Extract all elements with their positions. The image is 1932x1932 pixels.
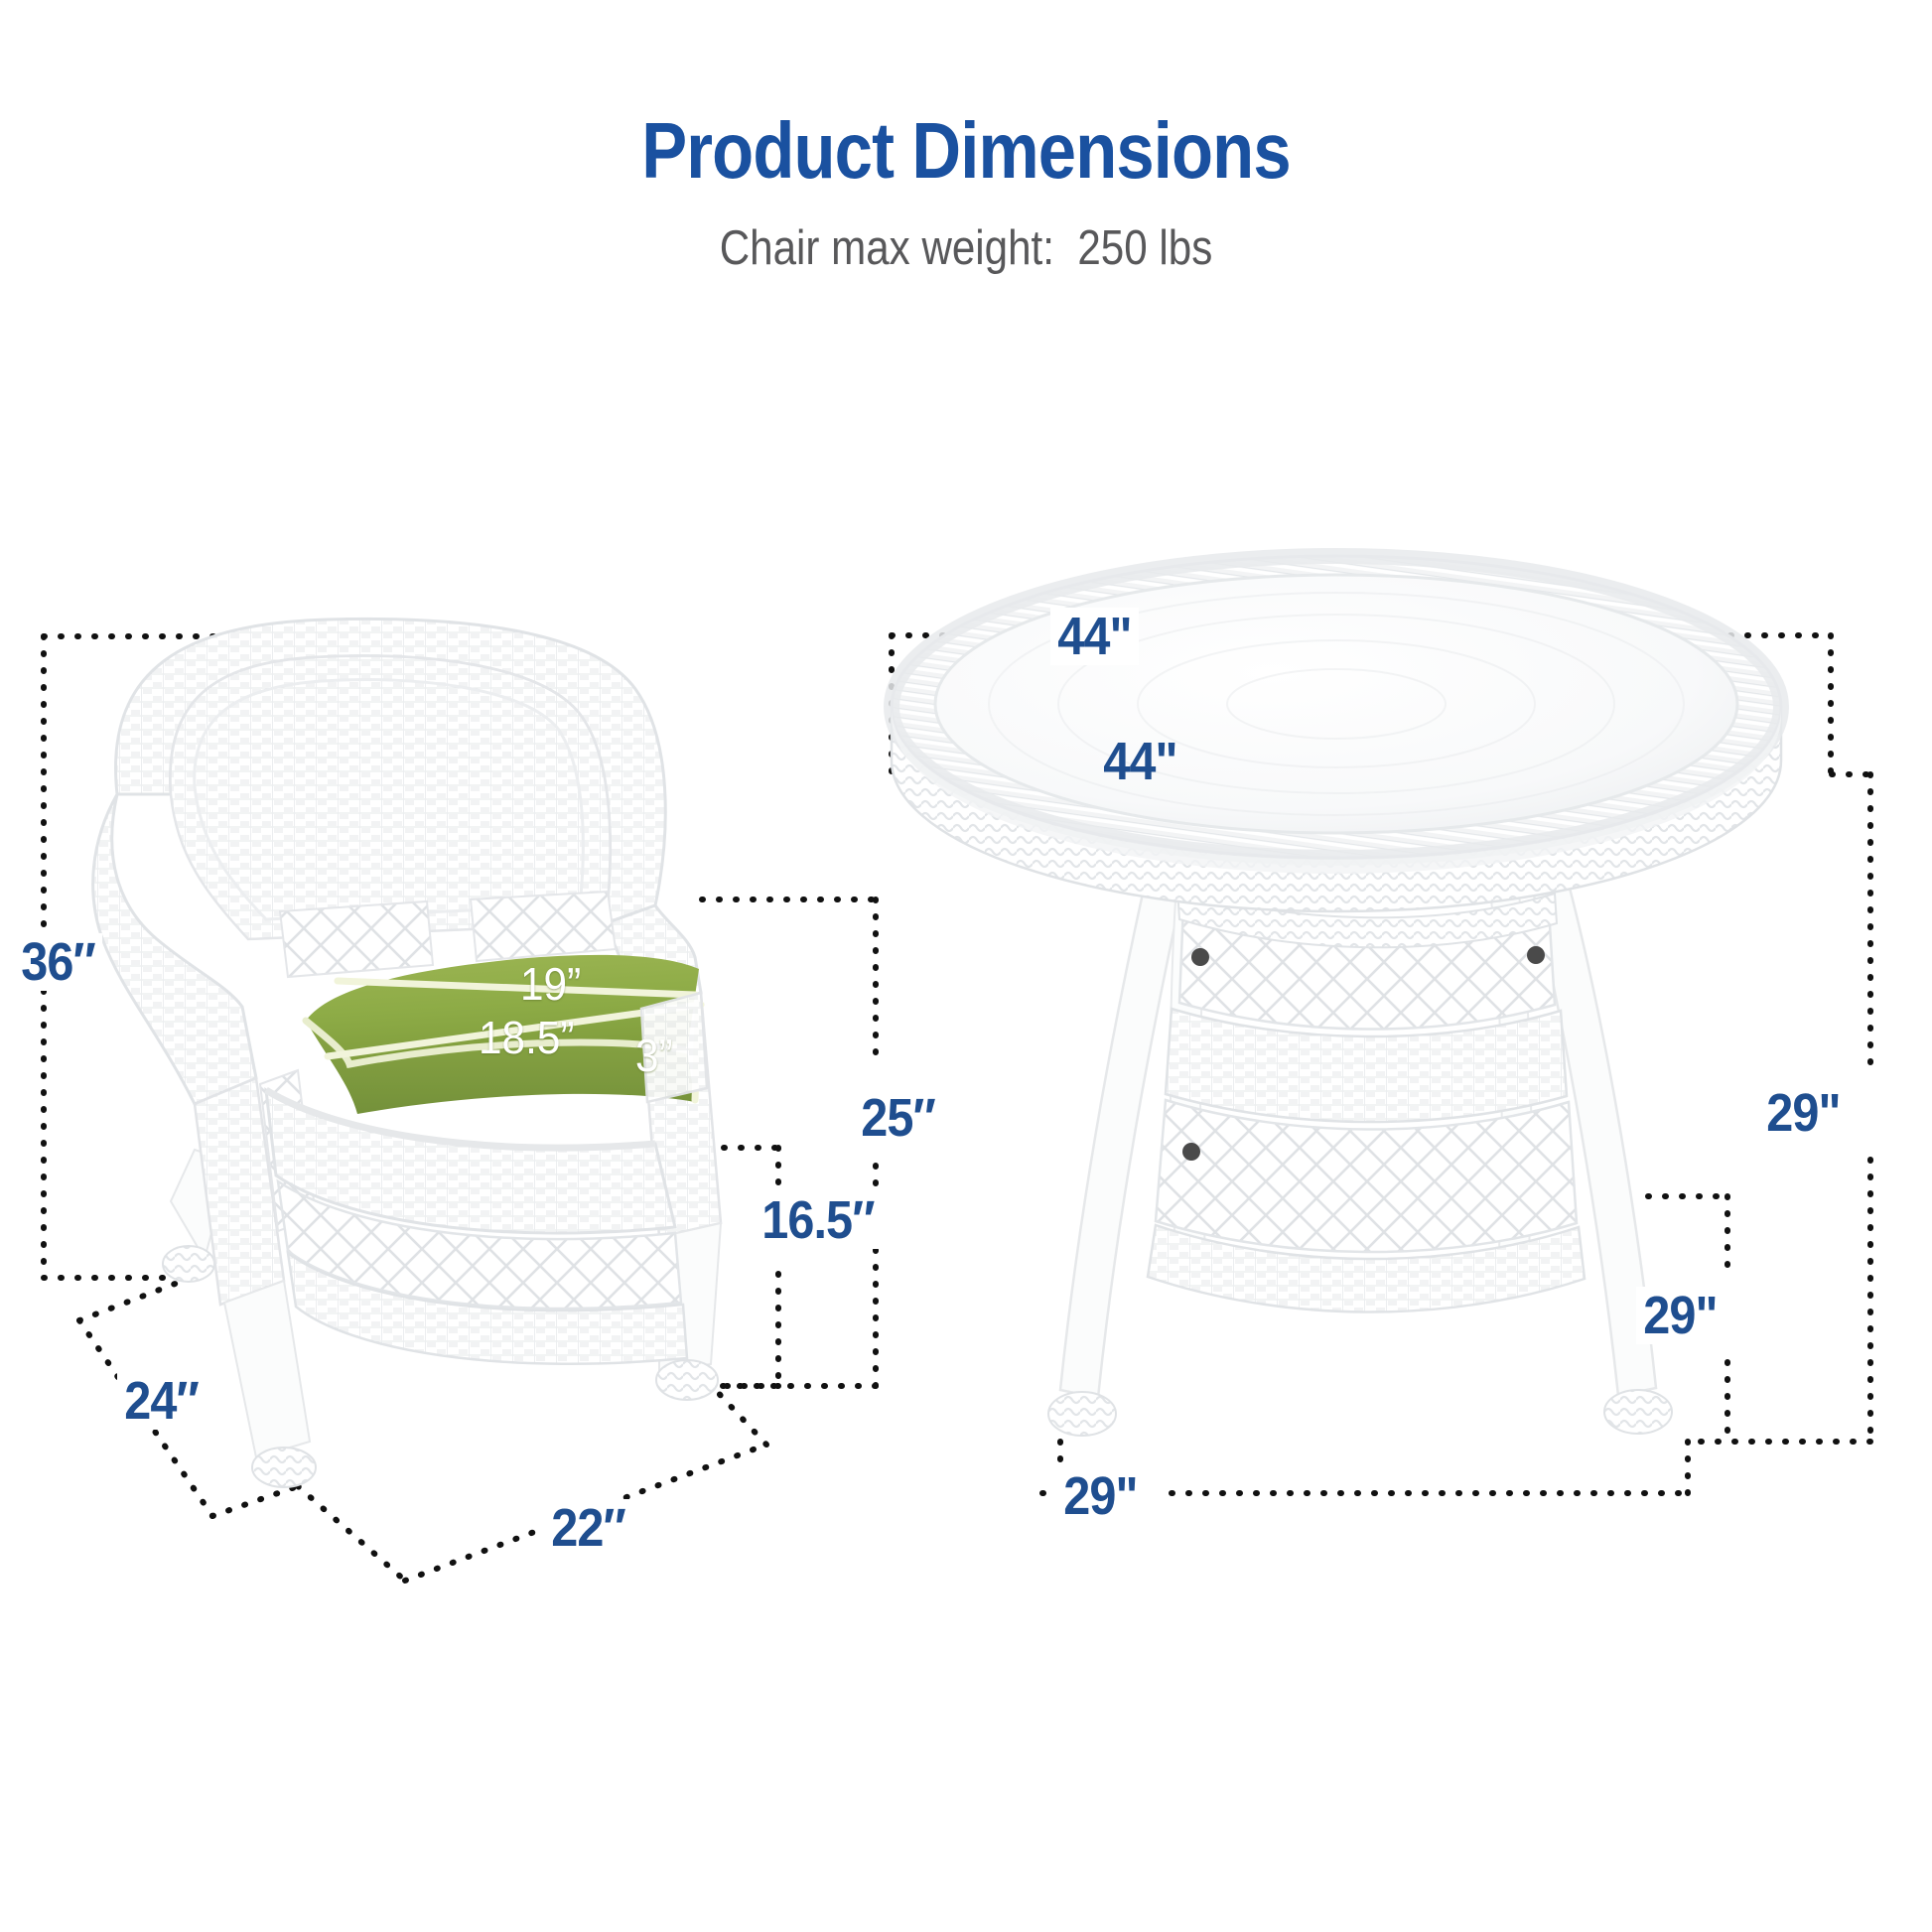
table-top-depth-label: 44"	[1096, 733, 1184, 790]
cushion-width-label: 18.5”	[479, 1015, 574, 1060]
table-height-label: 29"	[1759, 1084, 1848, 1142]
chair-arm-height-label: 25″	[854, 1089, 942, 1147]
chair-back-lattice-left	[280, 901, 433, 977]
table-foot-front-right	[1604, 1390, 1672, 1434]
chair-floor-edge-b	[212, 1486, 298, 1516]
table-base-depth-label: 29"	[1636, 1287, 1725, 1344]
table-bolt-right	[1527, 946, 1545, 964]
cushion-thickness-label: 3”	[635, 1033, 673, 1078]
chair-width-label: 22″	[544, 1499, 632, 1557]
table-top-width-label: 44"	[1050, 608, 1139, 665]
chair-right-foot	[656, 1360, 718, 1400]
chair-height-label: 36″	[14, 933, 102, 991]
chair-floor-edge-a	[79, 1278, 191, 1320]
product-dimensions-graphic: Product Dimensions Chair max weight: 250…	[0, 0, 1932, 1932]
chair-seat-height-label: 16.5″	[755, 1191, 882, 1249]
cushion-depth-label: 19”	[520, 961, 581, 1007]
chair-left-foot	[252, 1448, 316, 1487]
diagram-stage: 36″ 25″ 16.5″ 24″ 22″ 19” 18.5” 3” 44" 4…	[0, 0, 1932, 1932]
table-bolt-lower-left	[1182, 1143, 1200, 1161]
diagram-svg	[0, 0, 1932, 1932]
table-foot-front-left	[1048, 1392, 1116, 1436]
chair-illustration	[93, 619, 721, 1487]
chair-depth-label: 24″	[117, 1372, 206, 1430]
table-base-width-label: 29"	[1056, 1467, 1145, 1525]
chair-back-lattice-right	[471, 892, 616, 961]
table-bolt-left	[1191, 948, 1209, 966]
chair-floor-edge-c	[298, 1486, 405, 1581]
chair-floor-edge-d	[711, 1385, 766, 1445]
